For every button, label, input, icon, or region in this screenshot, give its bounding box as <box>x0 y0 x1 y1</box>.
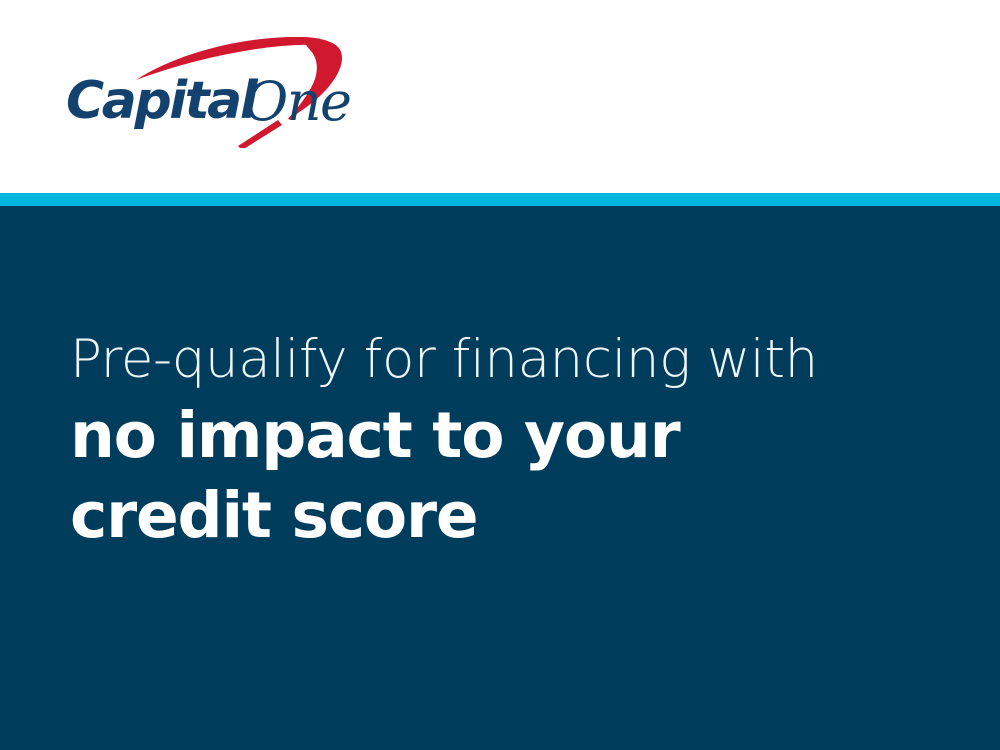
headline-line-3: credit score <box>70 476 950 556</box>
headline: Pre-qualify for financing with no impact… <box>70 324 950 556</box>
headline-line-2: no impact to your <box>70 396 950 476</box>
promo-slide: Capital One Pre-qualify for financing wi… <box>0 0 1000 750</box>
headline-line-1: Pre-qualify for financing with <box>70 324 950 396</box>
accent-divider <box>0 193 1000 206</box>
logo-wordmark-capital: Capital <box>66 71 259 131</box>
content-panel: Pre-qualify for financing with no impact… <box>0 206 1000 750</box>
capital-one-logo-svg: Capital One <box>62 28 362 148</box>
capital-one-logo: Capital One <box>62 28 362 148</box>
header-bar: Capital One <box>0 0 1000 193</box>
logo-wordmark-one: One <box>244 70 351 133</box>
